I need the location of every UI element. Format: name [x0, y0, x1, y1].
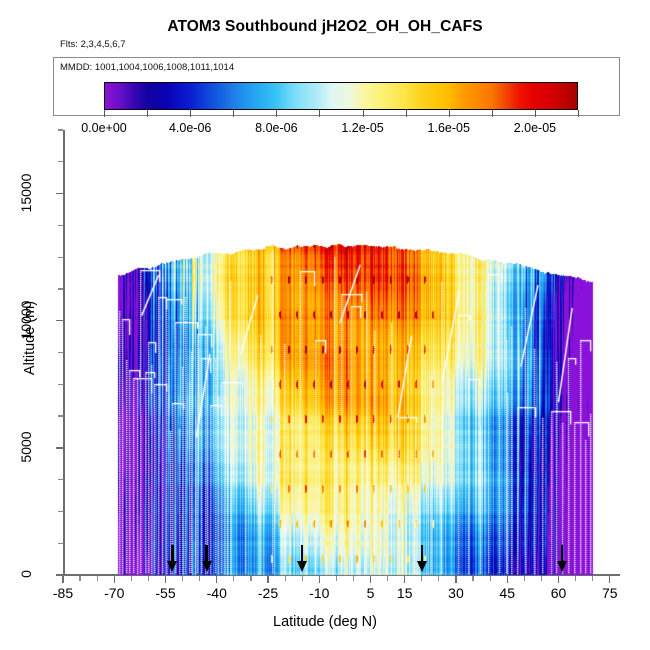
x-axis-minor-tick — [233, 576, 234, 581]
x-axis-minor-tick — [131, 576, 132, 581]
x-axis-tick-label: -25 — [258, 585, 278, 601]
y-axis-tick — [56, 320, 63, 321]
flight-marker-arrow-head — [202, 561, 212, 572]
x-axis-tick — [455, 576, 456, 583]
x-axis-tick — [558, 576, 559, 583]
y-axis-tick-label: 5000 — [18, 421, 34, 473]
x-axis-tick — [319, 576, 320, 583]
x-axis-minor-tick — [285, 576, 286, 581]
y-axis-minor-tick — [58, 161, 63, 162]
y-axis-tick-label: 15000 — [18, 167, 34, 219]
x-axis-tick-label: 30 — [448, 585, 464, 601]
x-axis-minor-tick — [199, 576, 200, 581]
x-axis-tick-label: 75 — [602, 585, 618, 601]
flight-marker-arrow — [301, 545, 304, 562]
flight-marker-arrow-head — [417, 561, 427, 572]
x-axis-minor-tick — [438, 576, 439, 581]
x-axis-minor-tick — [336, 576, 337, 581]
x-axis-tick — [507, 576, 508, 583]
x-axis-minor-tick — [79, 576, 80, 581]
y-axis-tick — [56, 193, 63, 194]
figure-root: ATOM3 Southbound jH2O2_OH_OH_CAFS Flts: … — [0, 0, 650, 650]
y-axis-title: Altitude (m) — [22, 268, 38, 408]
y-axis-minor-tick — [58, 288, 63, 289]
y-axis-tick-label: 0 — [18, 548, 34, 600]
y-axis-minor-tick — [58, 257, 63, 258]
x-axis-tick — [62, 576, 63, 583]
flight-marker-arrow — [421, 545, 424, 562]
x-axis-minor-tick — [592, 576, 593, 581]
x-axis-title: Latitude (deg N) — [0, 614, 650, 630]
x-axis-tick-label: -40 — [207, 585, 227, 601]
x-axis-tick — [114, 576, 115, 583]
y-axis-tick — [56, 447, 63, 448]
y-axis-minor-tick — [58, 129, 63, 130]
y-axis-minor-tick — [58, 415, 63, 416]
x-axis-tick — [404, 576, 405, 583]
flight-marker-arrow — [561, 545, 564, 562]
y-axis-minor-tick — [58, 479, 63, 480]
flight-marker-arrow-head — [557, 561, 567, 572]
y-axis-minor-tick — [58, 384, 63, 385]
x-axis-tick-label: 60 — [551, 585, 567, 601]
x-axis-minor-tick — [575, 576, 576, 581]
x-axis-minor-tick — [490, 576, 491, 581]
y-axis-minor-tick — [58, 352, 63, 353]
y-axis-minor-tick — [58, 511, 63, 512]
x-axis-minor-tick — [353, 576, 354, 581]
x-axis-tick-label: -70 — [104, 585, 124, 601]
x-axis-minor-tick — [472, 576, 473, 581]
x-axis-minor-tick — [524, 576, 525, 581]
flight-marker-arrow-head — [167, 561, 177, 572]
x-axis-minor-tick — [250, 576, 251, 581]
flight-marker-arrow-head — [297, 561, 307, 572]
x-axis-tick — [370, 576, 371, 583]
x-axis-tick-label: -85 — [53, 585, 73, 601]
x-axis-tick-label: -55 — [155, 585, 175, 601]
flight-marker-arrow — [171, 545, 174, 562]
x-axis-tick-label: 15 — [397, 585, 413, 601]
x-axis-minor-tick — [97, 576, 98, 581]
x-axis-minor-tick — [387, 576, 388, 581]
x-axis-tick — [216, 576, 217, 583]
x-axis-tick — [609, 576, 610, 583]
x-axis-tick — [165, 576, 166, 583]
x-axis-minor-tick — [302, 576, 303, 581]
y-axis-minor-tick — [58, 225, 63, 226]
x-axis-minor-tick — [421, 576, 422, 581]
x-axis-minor-tick — [148, 576, 149, 581]
y-axis-minor-tick — [58, 543, 63, 544]
x-axis-tick — [267, 576, 268, 583]
x-axis-tick-label: 45 — [499, 585, 515, 601]
curtain-plot — [0, 0, 650, 650]
flight-marker-arrow — [205, 545, 208, 562]
x-axis-minor-tick — [541, 576, 542, 581]
x-axis-tick-label: 5 — [367, 585, 375, 601]
x-axis-tick-label: -10 — [309, 585, 329, 601]
x-axis-minor-tick — [182, 576, 183, 581]
